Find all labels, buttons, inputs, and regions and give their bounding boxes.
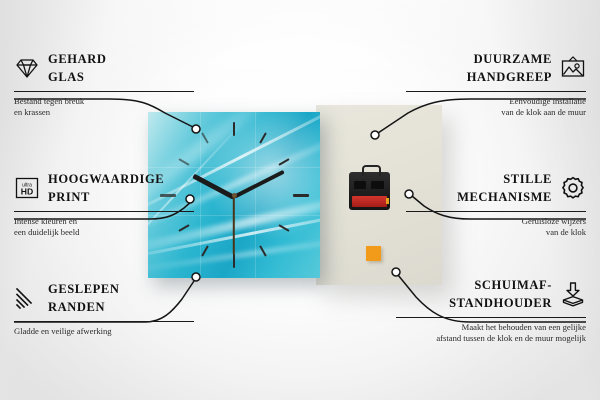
feature-title: SCHUIMAF- STANDHOUDER — [449, 276, 552, 312]
foam-spacer-icon — [560, 281, 586, 307]
svg-text:HD: HD — [21, 187, 33, 197]
feature-title-line1: GEHARD — [48, 52, 106, 66]
feature-subtitle-line2: een duidelijk beeld — [14, 227, 79, 237]
feature-title-line1: STILLE — [503, 172, 552, 186]
feature-subtitle: Bestand tegen breuk en krassen — [14, 96, 194, 119]
gear-icon — [560, 175, 586, 201]
feature-title-line2: MECHANISME — [457, 190, 552, 204]
feature-subtitle: Gladde en veilige afwerking — [14, 326, 194, 338]
clock-tick-3 — [293, 194, 309, 197]
picture-frame-icon — [560, 55, 586, 81]
feature-hoogwaardige-print[interactable]: ultra HD HOOGWAARDIGE PRINT Intense kleu… — [14, 170, 194, 239]
feature-subtitle-line1: Bestand tegen breuk — [14, 96, 84, 106]
feature-title: GEHARD GLAS — [48, 50, 106, 86]
feature-title: STILLE MECHANISME — [457, 170, 552, 206]
mechanism-hanger — [362, 165, 381, 176]
mechanism-slot-left — [354, 181, 366, 189]
feature-subtitle-line1: Maakt het behouden van een gelijke — [462, 322, 586, 332]
feature-title: GESLEPEN RANDEN — [48, 280, 120, 316]
divider — [406, 211, 586, 212]
feature-title: HOOGWAARDIGE PRINT — [48, 170, 164, 206]
feature-geslepen-randen[interactable]: GESLEPEN RANDEN Gladde en veilige afwerk… — [14, 280, 194, 337]
feature-subtitle: Maakt het behouden van een gelijke afsta… — [396, 322, 586, 345]
feature-subtitle-line2: afstand tussen de klok en de muur mogeli… — [436, 333, 586, 343]
feature-title-line1: HOOGWAARDIGE — [48, 172, 164, 186]
feature-subtitle-line1: Gladde en veilige afwerking — [14, 326, 112, 336]
feature-title-line1: SCHUIMAF- — [474, 278, 552, 292]
feature-subtitle-line1: Eenvoudige installatie — [509, 96, 586, 106]
feature-title-line2: STANDHOUDER — [449, 296, 552, 310]
feature-gehard-glas[interactable]: GEHARD GLAS Bestand tegen breuk en krass… — [14, 50, 194, 119]
clock-center-cap — [232, 193, 237, 198]
feature-title-line2: HANDGREEP — [467, 70, 552, 84]
feature-subtitle-line2: van de klok — [546, 227, 586, 237]
mechanism-slot-right — [371, 181, 384, 189]
divider — [14, 321, 194, 322]
feature-title-line2: RANDEN — [48, 300, 105, 314]
feature-subtitle-line2: van de klok aan de muur — [501, 107, 586, 117]
foam-spacer-piece — [366, 246, 381, 261]
feature-subtitle-line1: Intense kleuren en — [14, 216, 77, 226]
feature-schuimafstandhouder[interactable]: SCHUIMAF- STANDHOUDER Maakt het behouden… — [396, 276, 586, 345]
clock-tick-6 — [233, 254, 235, 268]
feature-subtitle: Eenvoudige installatie van de klok aan d… — [406, 96, 586, 119]
feature-subtitle: Geruisloze wijzers van de klok — [406, 216, 586, 239]
diamond-icon — [14, 55, 40, 81]
divider — [406, 91, 586, 92]
product-infographic: GEHARD GLAS Bestand tegen breuk en krass… — [0, 0, 600, 400]
aa-battery — [352, 196, 387, 207]
divider — [14, 91, 194, 92]
divider — [14, 211, 194, 212]
feature-title-line1: GESLEPEN — [48, 282, 120, 296]
feature-subtitle-line1: Geruisloze wijzers — [522, 216, 586, 226]
beveled-edges-icon — [14, 285, 40, 311]
feature-subtitle: Intense kleuren en een duidelijk beeld — [14, 216, 194, 239]
ultra-hd-icon: ultra HD — [14, 175, 40, 201]
clock-mechanism — [349, 172, 390, 210]
feature-title: DUURZAME HANDGREEP — [467, 50, 552, 86]
clock-second-hand — [233, 197, 235, 255]
feature-subtitle-line2: en krassen — [14, 107, 50, 117]
feature-title-line1: DUURZAME — [474, 52, 552, 66]
feature-stille-mechanisme[interactable]: STILLE MECHANISME Geruisloze wijzers van… — [406, 170, 586, 239]
divider — [396, 317, 586, 318]
feature-duurzame-handgreep[interactable]: DUURZAME HANDGREEP Eenvoudige installati… — [406, 50, 586, 119]
feature-title-line2: PRINT — [48, 190, 90, 204]
clock-tick-12 — [233, 122, 235, 136]
feature-title-line2: GLAS — [48, 70, 84, 84]
